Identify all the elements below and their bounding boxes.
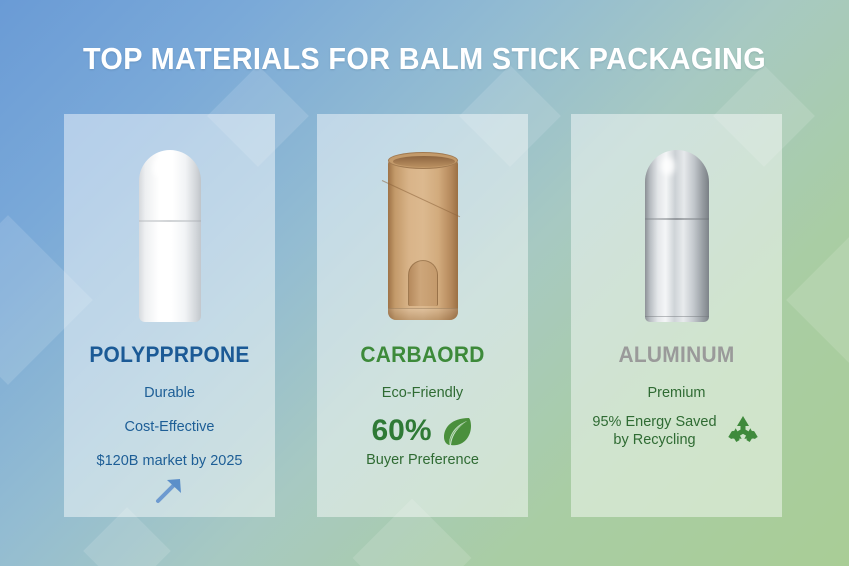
aluminum-stat-row: 95% Energy Saved by Recycling	[571, 414, 782, 448]
energy-saved-line-1: 95% Energy Saved	[592, 414, 716, 430]
cardboard-stat-row: 60%	[317, 414, 528, 448]
aluminum-body	[645, 216, 709, 322]
material-info-aluminum: ALUMINUM Premium 95% Energy Saved by Rec…	[571, 342, 782, 448]
tube-push-up-slot	[408, 260, 438, 306]
material-card-aluminum: ALUMINUM Premium 95% Energy Saved by Rec…	[571, 114, 782, 517]
material-info-polypropylene: POLYPPRPONE Durable Cost-Effective $120B…	[64, 342, 275, 506]
stick-cap	[139, 150, 201, 222]
material-feature-line: Eco-Friendly	[317, 384, 528, 402]
tube-seam	[381, 180, 459, 217]
product-illustration-cardboard	[317, 136, 528, 334]
aluminum-balm-stick-icon	[645, 150, 709, 322]
page-title: TOP MATERIALS FOR BALM STICK PACKAGING	[30, 42, 820, 76]
product-illustration-polypropylene	[64, 136, 275, 334]
aluminum-base-ring	[645, 316, 709, 317]
material-market-stat: $120B market by 2025	[64, 452, 275, 470]
buyer-preference-value: 60%	[371, 416, 431, 446]
material-card-cardboard: CARBAORD Eco-Friendly 60% Buyer Preferen…	[317, 114, 528, 517]
material-heading-aluminum: ALUMINUM	[576, 342, 776, 368]
tube-body	[388, 160, 458, 320]
material-feature-line: Premium	[571, 384, 782, 402]
kraft-cardboard-tube-icon	[388, 152, 458, 320]
aluminum-cap	[645, 150, 709, 220]
energy-saved-line-2: by Recycling	[592, 432, 716, 448]
material-feature-line: Durable	[64, 384, 275, 402]
recycling-icon	[725, 414, 761, 448]
tube-base	[388, 308, 458, 320]
material-card-polypropylene: POLYPPRPONE Durable Cost-Effective $120B…	[64, 114, 275, 517]
background-diamond-icon	[786, 232, 849, 368]
material-heading-cardboard: CARBAORD	[322, 342, 522, 368]
buyer-preference-label: Buyer Preference	[317, 452, 528, 468]
infographic-canvas: TOP MATERIALS FOR BALM STICK PACKAGING P…	[0, 0, 849, 566]
material-feature-line: Cost-Effective	[64, 418, 275, 436]
white-plastic-balm-stick-icon	[139, 150, 201, 322]
tube-open-rim	[388, 152, 458, 169]
stick-body	[139, 214, 201, 322]
material-info-cardboard: CARBAORD Eco-Friendly 60% Buyer Preferen…	[317, 342, 528, 468]
stick-seam	[139, 220, 201, 222]
material-heading-polypropylene: POLYPPRPONE	[69, 342, 269, 368]
trending-up-arrow-icon	[64, 476, 275, 506]
leaf-icon	[440, 414, 474, 448]
product-illustration-aluminum	[571, 136, 782, 334]
aluminum-seam	[645, 218, 709, 220]
